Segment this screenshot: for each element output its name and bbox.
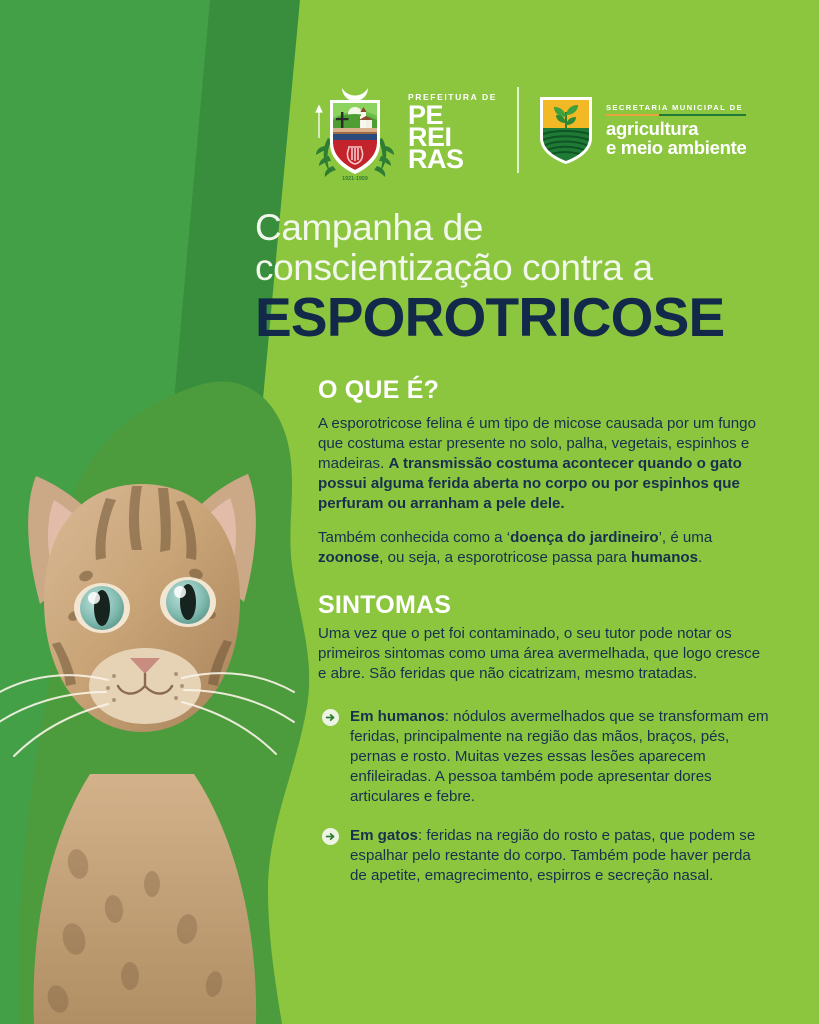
what-is-p2-bold-1: doença do jardineiro bbox=[510, 529, 658, 546]
bullet-label: Em humanos bbox=[350, 708, 445, 725]
poster-canvas: 1921-1959 PREFEITURA DE PE REI RAS bbox=[0, 0, 819, 1024]
arrow-right-circle-icon bbox=[322, 828, 339, 845]
secretaria-rule bbox=[606, 114, 746, 116]
what-is-p2-regular-2: ’, é uma bbox=[659, 529, 713, 546]
title-line-2: conscientização contra a bbox=[255, 248, 785, 288]
prefeitura-wordmark: PREFEITURA DE PE REI RAS bbox=[408, 90, 497, 170]
title-disease-name: ESPOROTRICOSE bbox=[255, 289, 785, 346]
title-line-1: Campanha de bbox=[255, 208, 785, 248]
prefeitura-name-line-3: RAS bbox=[408, 148, 497, 170]
header-divider bbox=[517, 87, 519, 173]
what-is-p2-bold-3: humanos bbox=[631, 549, 698, 566]
secretaria-name-line-1: agricultura bbox=[606, 120, 746, 139]
what-is-p2-regular-4: . bbox=[698, 549, 702, 566]
section-heading-symptoms: SINTOMAS bbox=[318, 591, 770, 620]
what-is-paragraph-2: Também conhecida como a ‘doença do jardi… bbox=[318, 528, 770, 568]
secretaria-eyebrow: SECRETARIA MUNICIPAL DE bbox=[606, 103, 746, 112]
symptoms-bullet-list: Em humanos: nódulos avermelhados que se … bbox=[318, 707, 770, 885]
what-is-p2-bold-2: zoonose bbox=[318, 549, 379, 566]
what-is-paragraph-1: A esporotricose felina é um tipo de mico… bbox=[318, 414, 770, 514]
header-logos: 1921-1959 PREFEITURA DE PE REI RAS bbox=[312, 74, 762, 186]
section-heading-what-is: O QUE É? bbox=[318, 376, 770, 405]
crest-year-text: 1921-1959 bbox=[342, 176, 368, 182]
secretaria-wordmark: SECRETARIA MUNICIPAL DE agricultura e me… bbox=[606, 103, 746, 158]
secretaria-name-line-2: e meio ambiente bbox=[606, 139, 746, 158]
page-title: Campanha de conscientização contra a ESP… bbox=[255, 208, 785, 346]
what-is-p2-regular-1: Também conhecida como a ‘ bbox=[318, 529, 510, 546]
what-is-p2-regular-3: , ou seja, a esporotricose passa para bbox=[379, 549, 631, 566]
logo-secretaria-agricultura: SECRETARIA MUNICIPAL DE agricultura e me… bbox=[537, 94, 746, 166]
agriculture-shield-icon bbox=[537, 94, 595, 166]
pereiras-coat-of-arms-icon: 1921-1959 bbox=[312, 76, 398, 184]
arrow-right-circle-icon bbox=[322, 709, 339, 726]
logo-prefeitura: 1921-1959 PREFEITURA DE PE REI RAS bbox=[312, 76, 497, 184]
content-column: O QUE É? A esporotricose felina é um tip… bbox=[318, 376, 770, 886]
symptoms-intro-paragraph: Uma vez que o pet foi contaminado, o seu… bbox=[318, 624, 770, 684]
list-item: Em humanos: nódulos avermelhados que se … bbox=[350, 707, 770, 807]
bullet-label: Em gatos bbox=[350, 827, 418, 844]
list-item: Em gatos: feridas na região do rosto e p… bbox=[350, 826, 770, 886]
